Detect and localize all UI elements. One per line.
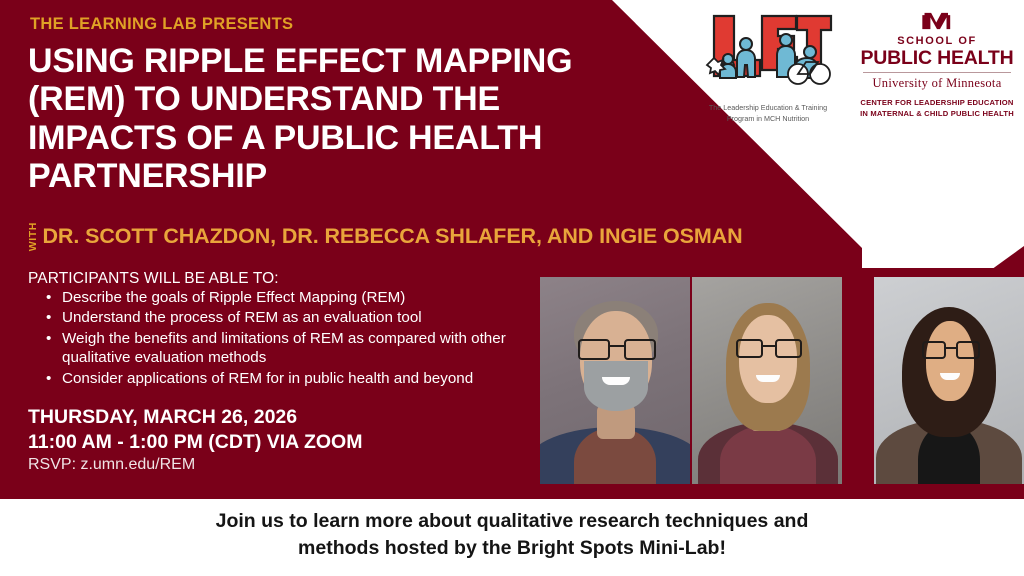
list-item-label: Understand the process of REM as an eval… [62,309,422,326]
bullet-icon: • [46,288,51,307]
with-label: WITH [28,222,39,251]
poster-canvas: THE LEARNING LAB PRESENTS USING RIPPLE E… [0,0,1024,576]
let-logo-mark [702,10,834,98]
list-item-label: Consider applications of REM for in publ… [62,370,473,387]
bullet-icon: • [46,329,51,348]
umn-block-m-icon [915,10,959,32]
list-item: • Weigh the benefits and limitations of … [40,329,560,368]
event-date: THURSDAY, MARCH 26, 2026 [28,406,297,429]
sph-university: University of Minnesota [855,76,1019,91]
speaker-photo-scott-chazdon [540,277,690,484]
speaker-names: DR. SCOTT CHAZDON, DR. REBECCA SHLAFER, … [43,224,743,249]
logo-divider [863,72,1011,73]
objectives-list: • Describe the goals of Ripple Effect Ma… [40,288,560,389]
list-item-label: Weigh the benefits and limitations of RE… [62,330,506,366]
list-item: • Consider applications of REM for in pu… [40,369,560,388]
bottom-banner: Join us to learn more about qualitative … [0,496,1024,576]
list-item: • Understand the process of REM as an ev… [40,308,560,327]
sph-public-health: PUBLIC HEALTH [855,47,1019,70]
list-item-label: Describe the goals of Ripple Effect Mapp… [62,289,405,306]
kicker-text: THE LEARNING LAB PRESENTS [30,15,293,34]
bullet-icon: • [46,369,51,388]
event-time: 11:00 AM - 1:00 PM (CDT) VIA ZOOM [28,431,362,454]
sph-center-name: CENTER FOR LEADERSHIP EDUCATION IN MATER… [855,97,1019,120]
rsvp-link[interactable]: RSVP: z.umn.edu/REM [28,456,195,474]
sph-school-of: SCHOOL OF [855,35,1019,47]
let-program-logo: The Leadership Education & Training Prog… [702,10,834,120]
objectives-heading: PARTICIPANTS WILL BE ABLE TO: [28,270,279,288]
banner-divider [0,496,1024,499]
let-logo-caption: The Leadership Education & Training Prog… [702,103,834,125]
speaker-photo-ingie-osman [874,277,1024,484]
speaker-row: WITH DR. SCOTT CHAZDON, DR. REBECCA SHLA… [28,222,743,251]
bullet-icon: • [46,308,51,327]
umn-sph-logo: SCHOOL OF PUBLIC HEALTH University of Mi… [855,10,1019,122]
page-title: USING RIPPLE EFFECT MAPPING (REM) TO UND… [28,42,628,196]
banner-message: Join us to learn more about qualitative … [0,508,1024,562]
speaker-photo-rebecca-shlafer [692,277,842,484]
list-item: • Describe the goals of Ripple Effect Ma… [40,288,560,307]
